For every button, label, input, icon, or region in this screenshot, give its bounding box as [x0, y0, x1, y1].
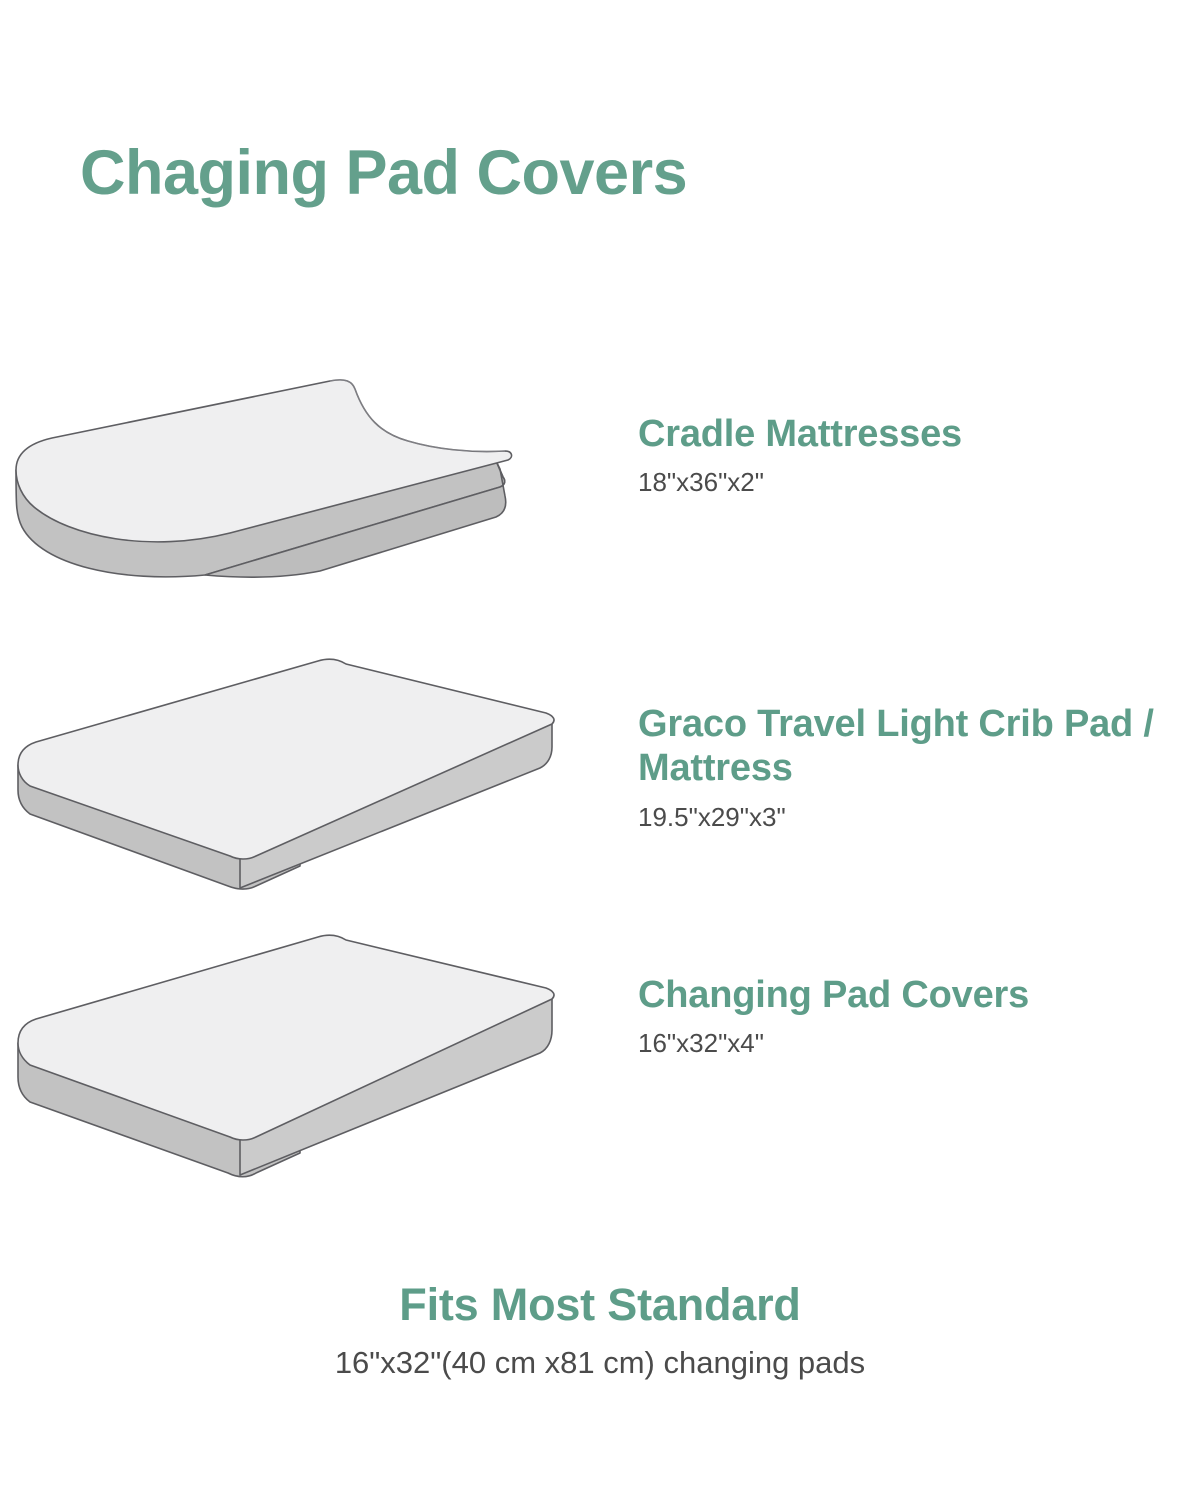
product-row: Graco Travel Light Crib Pad / Mattress 1…: [0, 650, 1200, 900]
footer-subtitle: 16"x32"(40 cm x81 cm) changing pads: [0, 1344, 1200, 1381]
thick-mattress-illustration: [0, 925, 600, 1185]
product-name: Changing Pad Covers: [638, 973, 1168, 1017]
product-row: Cradle Mattresses 18"x36"x2": [0, 365, 1200, 605]
product-illustration-cell: [0, 365, 600, 605]
contoured-changing-pad-illustration: [0, 365, 600, 605]
product-text-cell: Cradle Mattresses 18"x36"x2": [600, 365, 1200, 500]
product-text-cell: Changing Pad Covers 16"x32"x4": [600, 925, 1200, 1061]
product-name: Cradle Mattresses: [638, 412, 1168, 456]
product-illustration-cell: [0, 650, 600, 900]
product-dimensions: 18"x36"x2": [638, 466, 1200, 500]
footer: Fits Most Standard 16"x32"(40 cm x81 cm)…: [0, 1280, 1200, 1381]
page-title: Chaging Pad Covers: [80, 140, 687, 206]
product-text-cell: Graco Travel Light Crib Pad / Mattress 1…: [600, 650, 1200, 835]
footer-title: Fits Most Standard: [0, 1280, 1200, 1330]
flat-mattress-illustration: [0, 650, 600, 900]
product-name: Graco Travel Light Crib Pad / Mattress: [638, 702, 1168, 791]
product-illustration-cell: [0, 925, 600, 1185]
infographic-page: Chaging Pad Covers Cradle Mattresses 18"…: [0, 0, 1200, 1500]
product-dimensions: 16"x32"x4": [638, 1027, 1200, 1061]
product-dimensions: 19.5"x29"x3": [638, 801, 1200, 835]
product-row: Changing Pad Covers 16"x32"x4": [0, 925, 1200, 1185]
